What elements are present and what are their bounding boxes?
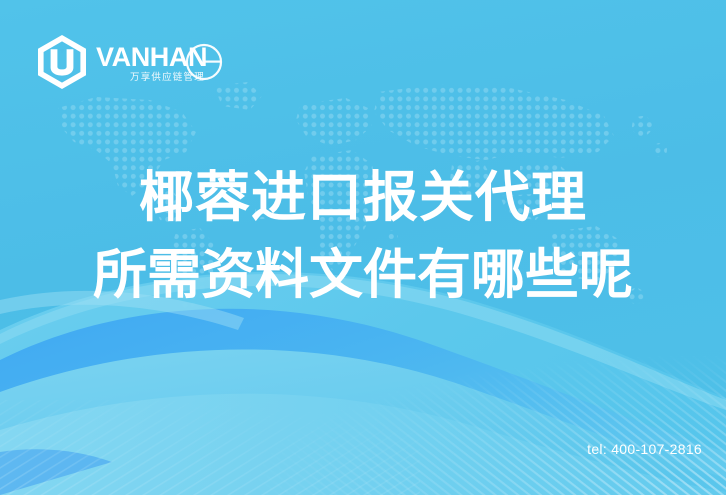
logo-wordmark: VANHAN 万享供应链管理: [96, 36, 224, 88]
brand-logo: VANHAN 万享供应链管理: [34, 32, 224, 92]
contact-phone: tel: 400-107-2816: [587, 441, 702, 457]
promo-banner: VANHAN 万享供应链管理 椰蓉进口报关代理 所需资料文件有哪些呢 tel: …: [0, 0, 726, 495]
hexagon-u-logo-icon: [34, 34, 90, 90]
logo-wordmark-text: VANHAN: [96, 42, 207, 72]
title-line-2: 所需资料文件有哪些呢: [0, 236, 726, 314]
logo-subtitle-cn: 万享供应链管理: [130, 71, 205, 83]
page-title: 椰蓉进口报关代理 所需资料文件有哪些呢: [0, 158, 726, 314]
title-line-1: 椰蓉进口报关代理: [0, 158, 726, 236]
